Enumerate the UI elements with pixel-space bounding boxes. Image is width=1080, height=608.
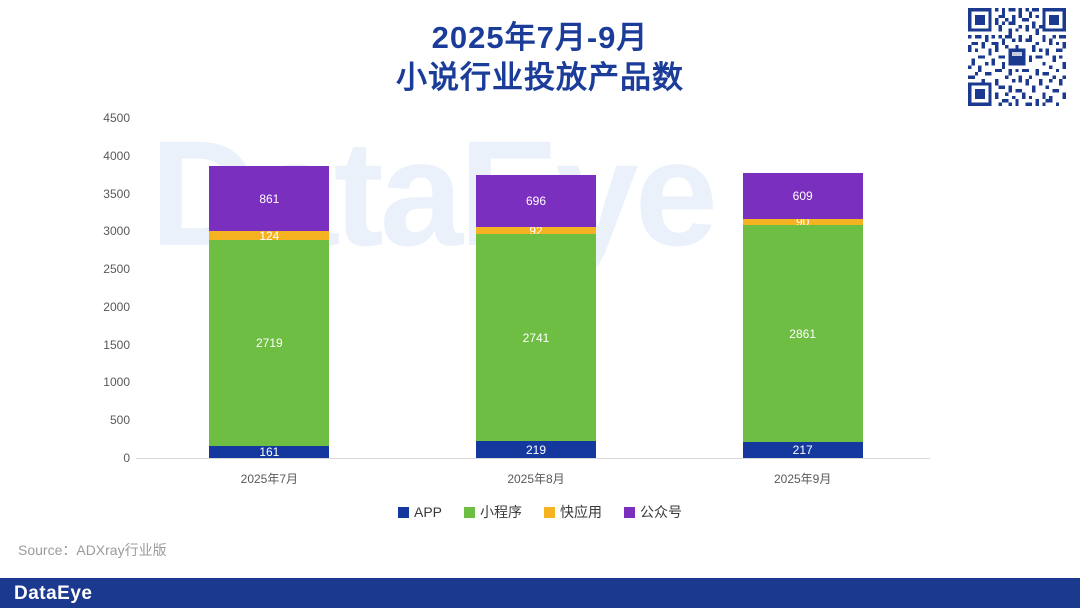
bar-segment[interactable]: 861 [209,166,329,231]
bar-segment[interactable]: 90 [743,219,863,226]
bar-value-label: 124 [209,231,329,240]
bar-segment[interactable]: 124 [209,231,329,240]
y-axis: 450040003500300025002000150010005000 [70,118,130,458]
bar-value-label: 2741 [476,331,596,345]
legend-item[interactable]: 快应用 [544,502,602,522]
y-axis-tick: 1500 [70,338,130,352]
y-axis-tick: 2500 [70,262,130,276]
y-axis-tick: 3000 [70,224,130,238]
bar-segment[interactable]: 217 [743,442,863,458]
bar-value-label: 219 [476,443,596,457]
dataeye-logo: DataEye [14,583,93,605]
x-axis-label: 2025年9月 [708,470,898,487]
y-axis-tick: 4500 [70,111,130,125]
legend-label: 快应用 [560,504,602,520]
y-axis-tick: 1000 [70,375,130,389]
bar-segment[interactable]: 219 [476,441,596,458]
x-axis-label: 2025年7月 [174,470,364,487]
legend-swatch [464,507,475,518]
bar-value-label: 92 [476,227,596,234]
legend-swatch [624,507,635,518]
bar-value-label: 2861 [743,327,863,341]
y-axis-tick: 0 [70,451,130,465]
bar-segment[interactable]: 92 [476,227,596,234]
bar-segment[interactable]: 2719 [209,240,329,445]
legend-item[interactable]: APP [398,504,442,520]
source-note: Source：ADXray行业版 [18,540,167,560]
bar-segment[interactable]: 2861 [743,225,863,441]
title-line-1: 2025年7月-9月 [0,18,1080,58]
plot-area: 86112427191612025年7月6969227412192025年8月6… [136,118,936,458]
bar-value-label: 2719 [209,336,329,350]
bar-segment[interactable]: 161 [209,446,329,458]
bar-group[interactable]: 609902861217 [743,173,863,458]
bar-value-label: 861 [209,192,329,206]
bar-value-label: 609 [743,189,863,203]
bar-group[interactable]: 8611242719161 [209,166,329,458]
legend-label: 公众号 [640,504,682,520]
y-axis-tick: 2000 [70,300,130,314]
axis-baseline [136,458,930,459]
bar-group[interactable]: 696922741219 [476,175,596,458]
bar-value-label: 696 [476,194,596,208]
footer-bar: DataEye [0,578,1080,608]
bar-value-label: 90 [743,219,863,226]
x-axis-label: 2025年8月 [441,470,631,487]
legend-swatch [544,507,555,518]
bar-segment[interactable]: 696 [476,175,596,228]
stacked-bar-chart: 450040003500300025002000150010005000 861… [0,118,1080,498]
legend-item[interactable]: 公众号 [624,502,682,522]
legend-label: 小程序 [480,504,522,520]
legend-label: APP [414,504,442,520]
title-line-2: 小说行业投放产品数 [0,58,1080,98]
bar-value-label: 161 [209,446,329,458]
bar-value-label: 217 [743,443,863,457]
legend-swatch [398,507,409,518]
y-axis-tick: 3500 [70,187,130,201]
bar-segment[interactable]: 2741 [476,234,596,441]
page-title: 2025年7月-9月 小说行业投放产品数 [0,18,1080,98]
legend-item[interactable]: 小程序 [464,502,522,522]
chart-legend: APP小程序快应用公众号 [0,502,1080,522]
y-axis-tick: 500 [70,413,130,427]
y-axis-tick: 4000 [70,149,130,163]
bar-segment[interactable]: 609 [743,173,863,219]
